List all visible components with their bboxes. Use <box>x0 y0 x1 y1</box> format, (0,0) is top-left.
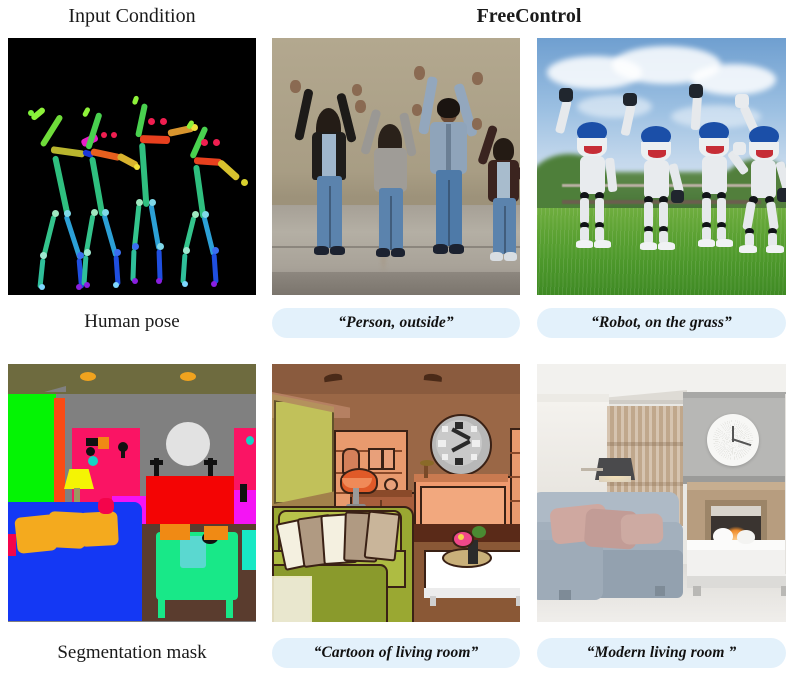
row-label-human-pose: Human pose <box>8 312 256 331</box>
people-outside-photo <box>272 38 520 295</box>
caption-person-outside: “Person, outside” <box>272 308 520 338</box>
segmentation-canvas <box>8 364 256 622</box>
openpose-skeleton-image <box>8 38 256 295</box>
ground-gravel <box>272 272 520 295</box>
column-header-freecontrol: FreeControl <box>272 6 786 26</box>
person-1 <box>302 86 356 264</box>
modern-canvas <box>537 364 786 622</box>
robot-3 <box>681 98 735 240</box>
robot-1 <box>561 100 613 240</box>
robot-4 <box>733 110 783 246</box>
figure-root: Input Condition FreeControl <box>0 0 799 678</box>
cartoon-living-room <box>272 364 520 622</box>
modern-living-room <box>537 364 786 622</box>
cartoon-canvas <box>272 364 520 622</box>
caption-cartoon-living-room: “Cartoon of living room” <box>272 638 520 668</box>
robot-2 <box>625 104 677 242</box>
person-3 <box>420 78 476 264</box>
column-header-input-condition: Input Condition <box>8 6 256 26</box>
person-4 <box>480 108 520 264</box>
photo-people-canvas <box>272 38 520 295</box>
robots-on-grass-photo <box>537 38 786 295</box>
segmentation-mask-image <box>8 364 256 622</box>
row-label-segmentation-mask: Segmentation mask <box>8 643 256 662</box>
robots-canvas <box>537 38 786 295</box>
pose-canvas <box>8 38 256 295</box>
person-2 <box>364 98 416 264</box>
caption-modern-living-room: “Modern living room ” <box>537 638 786 668</box>
caption-robot-grass: “Robot, on the grass” <box>537 308 786 338</box>
